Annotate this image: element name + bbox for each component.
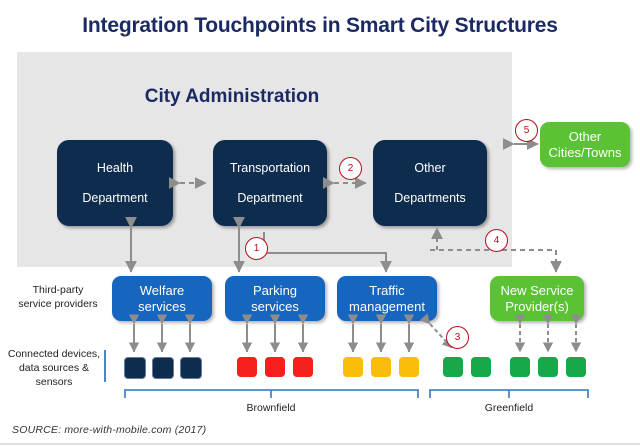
label-third-party-providers: Third-party service providers — [6, 283, 110, 311]
service-label-line1: New Service — [501, 283, 574, 298]
service-label-line1: Parking — [253, 283, 297, 298]
touchpoint-number: 1 — [254, 243, 260, 254]
touchpoint-number: 3 — [455, 332, 461, 343]
external-box-other-cities[interactable]: Other Cities/Towns — [540, 122, 630, 167]
diagram-canvas: Integration Touchpoints in Smart City St… — [0, 0, 640, 448]
label-connected-devices: Connected devices, data sources & sensor… — [2, 347, 106, 389]
device-square — [510, 357, 530, 377]
label-line1: Third-party — [33, 284, 84, 296]
department-box-transportation[interactable]: Transportation Department — [213, 140, 327, 226]
service-label-line2: services — [138, 299, 186, 314]
department-label-line2: Department — [226, 191, 314, 206]
external-label-line1: Other — [569, 129, 602, 144]
label-line1: Connected devices, — [8, 348, 100, 360]
device-square — [293, 357, 313, 377]
service-label-line2: services — [251, 299, 299, 314]
device-square — [237, 357, 257, 377]
bottom-divider — [0, 443, 640, 445]
device-square — [399, 357, 419, 377]
device-square — [371, 357, 391, 377]
service-box-parking[interactable]: Parking services — [225, 276, 325, 321]
label-brownfield: Brownfield — [221, 402, 321, 414]
touchpoint-marker-3[interactable]: 3 — [446, 326, 469, 349]
service-label-line1: Traffic — [369, 283, 404, 298]
device-square — [343, 357, 363, 377]
department-box-health[interactable]: Health Department — [57, 140, 173, 226]
service-box-welfare[interactable]: Welfare services — [112, 276, 212, 321]
department-label-line1: Other — [390, 161, 470, 176]
device-square — [566, 357, 586, 377]
touchpoint-number: 2 — [348, 163, 354, 174]
department-box-other[interactable]: Other Departments — [373, 140, 487, 226]
label-line2: data sources & — [19, 362, 89, 374]
external-label-line2: Cities/Towns — [549, 145, 622, 160]
touchpoint-number: 5 — [524, 125, 530, 136]
service-box-traffic[interactable]: Traffic management — [337, 276, 437, 321]
touchpoint-marker-4[interactable]: 4 — [485, 229, 508, 252]
label-line3: sensors — [36, 376, 73, 388]
service-box-new-provider[interactable]: New Service Provider(s) — [490, 276, 584, 321]
touchpoint-number: 4 — [494, 235, 500, 246]
device-square — [538, 357, 558, 377]
device-square — [180, 357, 202, 379]
service-label-line2: Provider(s) — [505, 299, 569, 314]
department-label-line1: Transportation — [226, 161, 314, 176]
device-square — [124, 357, 146, 379]
department-label-line2: Departments — [390, 191, 470, 206]
device-square — [443, 357, 463, 377]
device-square — [152, 357, 174, 379]
page-title: Integration Touchpoints in Smart City St… — [0, 14, 640, 38]
touchpoint-marker-5[interactable]: 5 — [515, 119, 538, 142]
source-note: SOURCE: more-with-mobile.com (2017) — [12, 424, 206, 436]
devices-label-bracket — [104, 350, 113, 382]
touchpoint-marker-2[interactable]: 2 — [339, 157, 362, 180]
touchpoint-marker-1[interactable]: 1 — [245, 237, 268, 260]
department-label-line1: Health — [78, 161, 151, 176]
city-administration-heading: City Administration — [17, 86, 447, 108]
label-greenfield: Greenfield — [459, 402, 559, 414]
department-label-line2: Department — [78, 191, 151, 206]
label-line2: service providers — [18, 298, 97, 310]
device-square — [471, 357, 491, 377]
device-square — [265, 357, 285, 377]
service-label-line1: Welfare — [140, 283, 185, 298]
service-label-line2: management — [349, 299, 425, 314]
